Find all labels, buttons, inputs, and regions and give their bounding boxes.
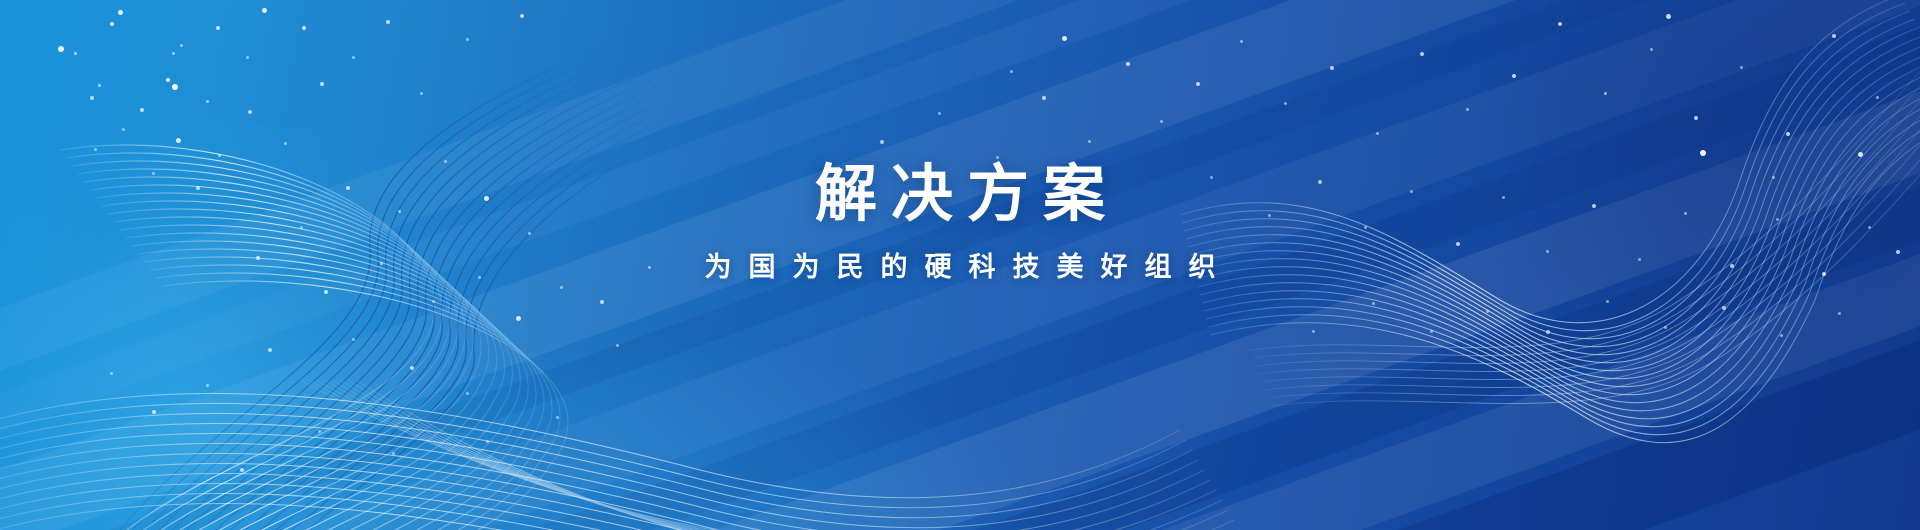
page-title: 解决方案 bbox=[0, 162, 1920, 229]
wave-ribbon-bottom bbox=[0, 393, 1246, 530]
hero-banner: 解决方案 为国为民的硬科技美好组织 bbox=[0, 0, 1920, 530]
banner-text-block: 解决方案 为国为民的硬科技美好组织 bbox=[0, 162, 1920, 283]
lower-center-glow bbox=[230, 330, 1050, 530]
wave-ribbon-fan bbox=[300, 380, 914, 530]
page-subtitle: 为国为民的硬科技美好组织 bbox=[0, 251, 1920, 283]
diagonal-band bbox=[0, 38, 1920, 530]
